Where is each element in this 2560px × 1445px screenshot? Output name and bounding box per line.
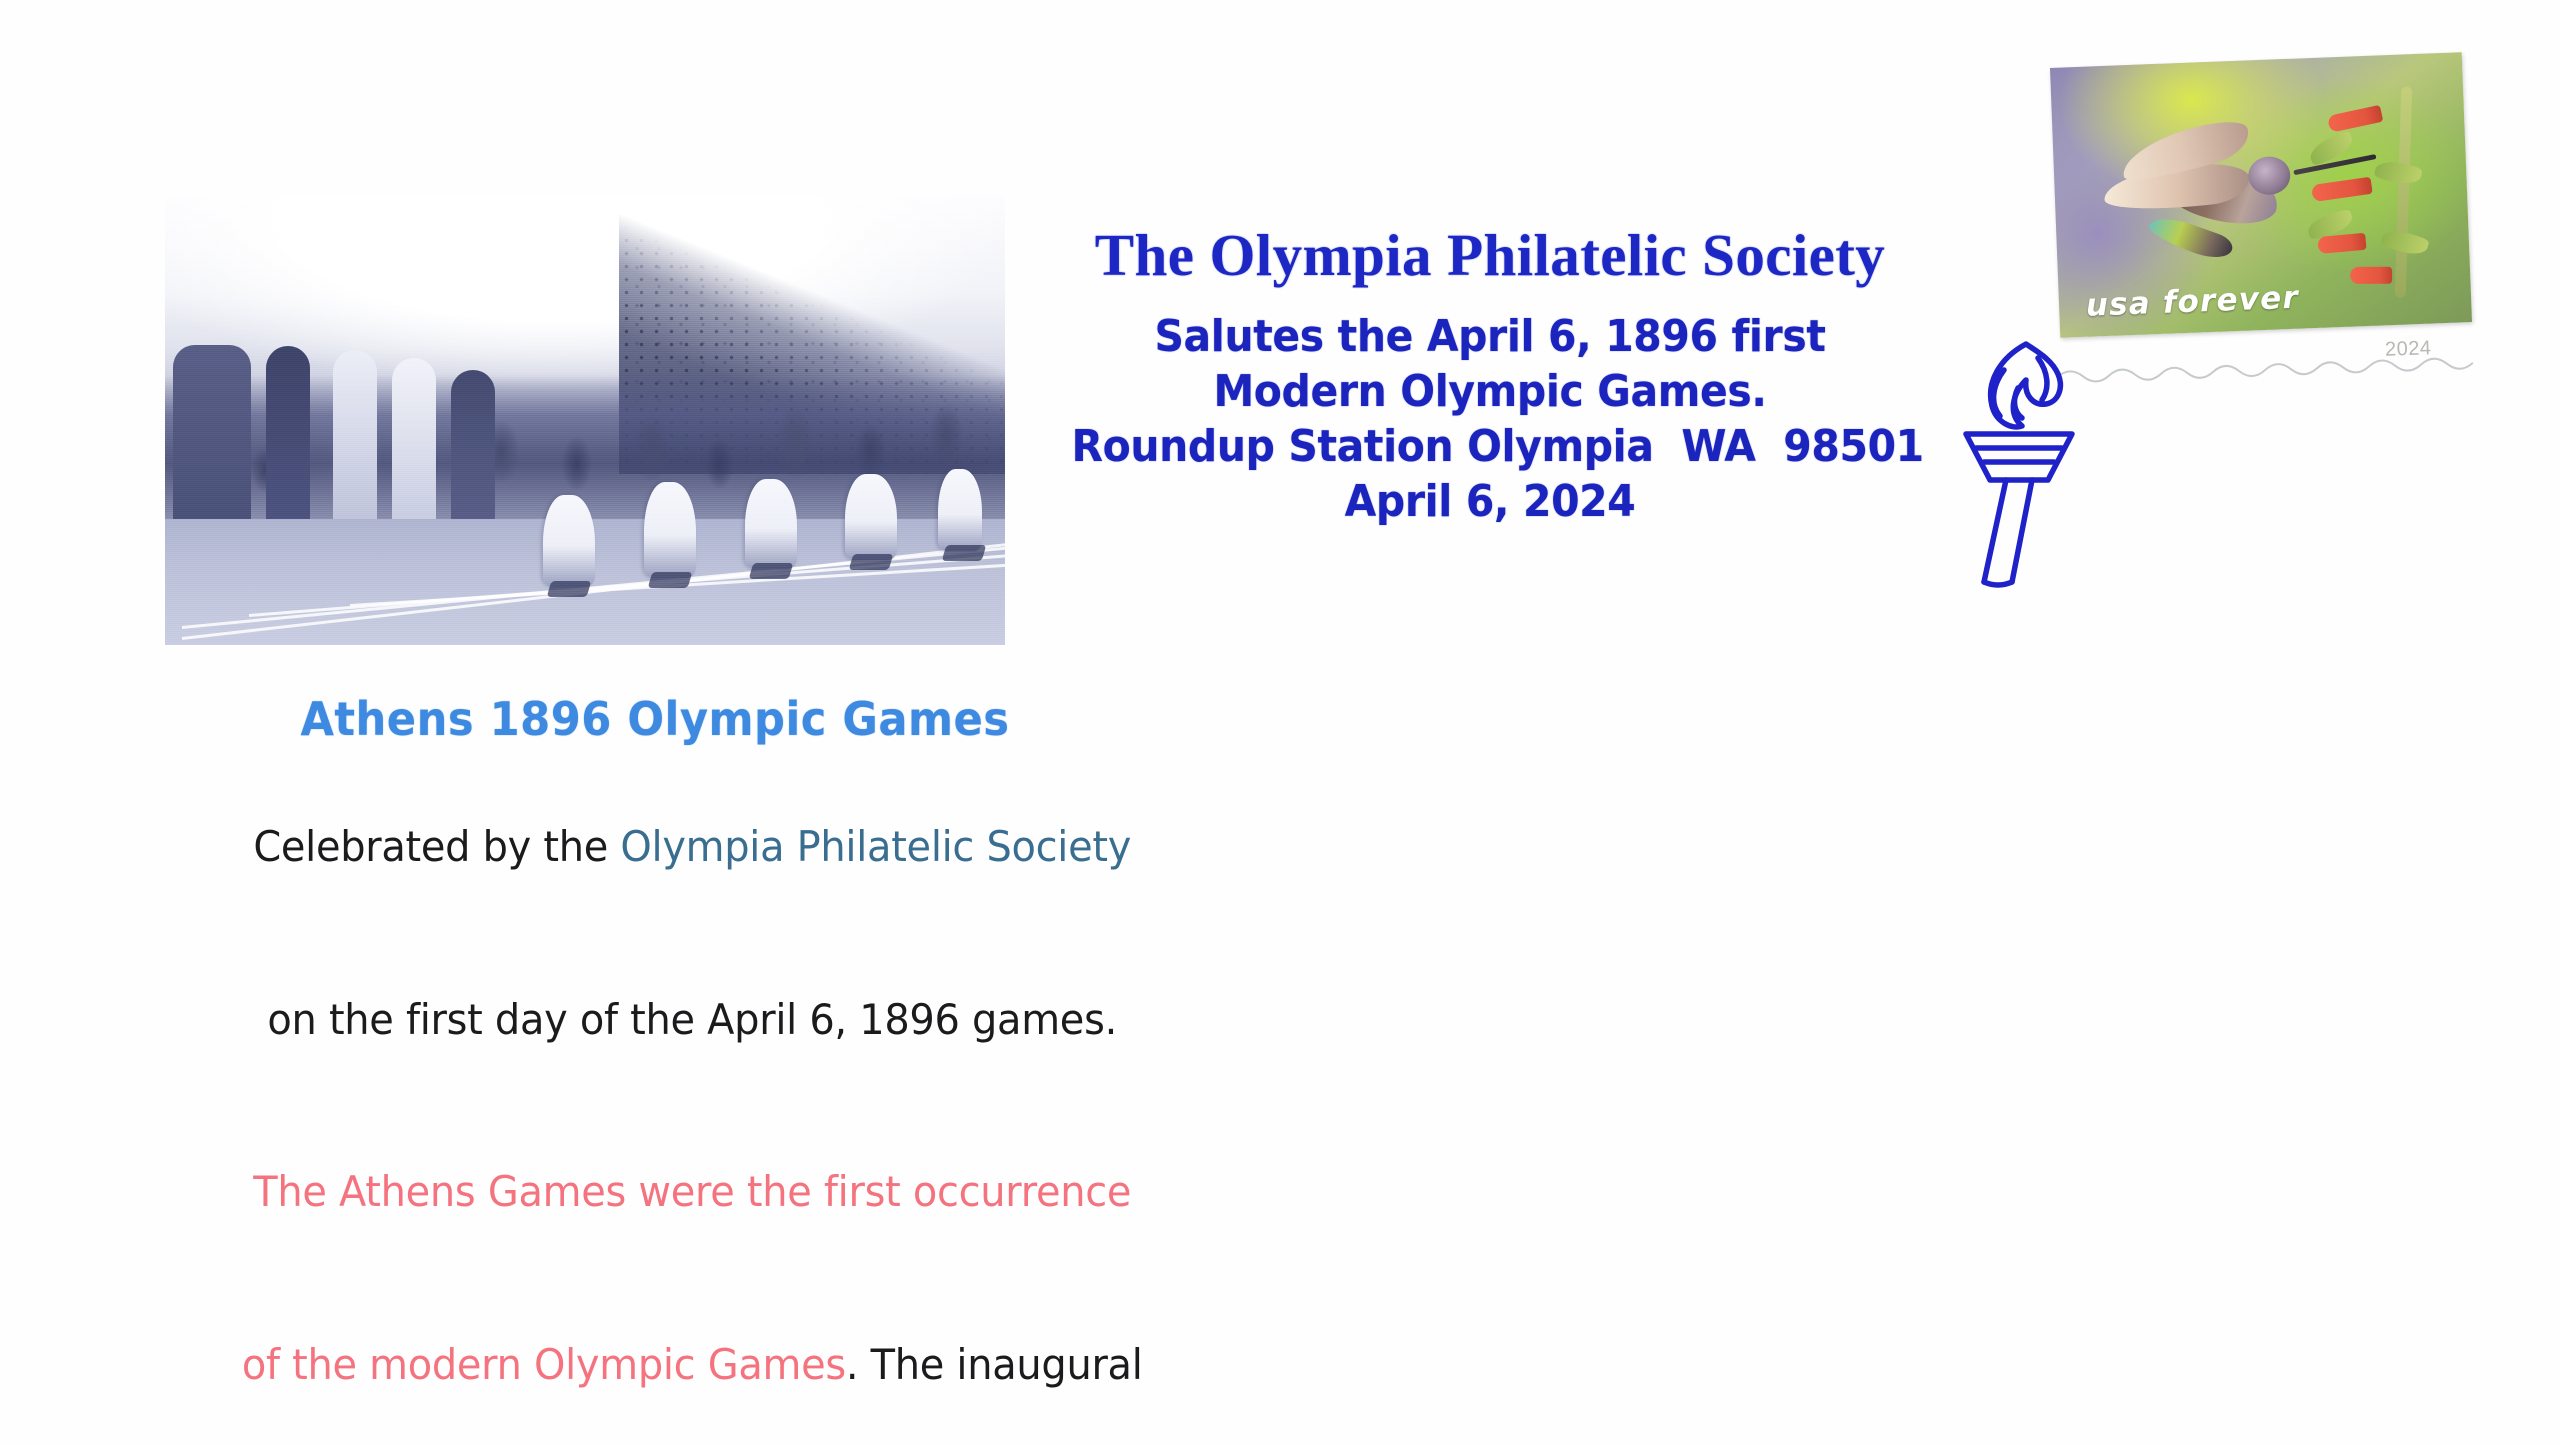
first-day-cover: The Olympia Philatelic Society Salutes t…	[0, 0, 2560, 1445]
cachet-title: The Olympia Philatelic Society	[1040, 225, 1940, 287]
body-segment-highlight: of the modern Olympic Games	[242, 1340, 846, 1389]
flower-bloom	[2327, 105, 2383, 133]
cachet-line-3: Roundup Station Olympia WA 98501	[1072, 419, 1909, 474]
cachet-lines: Salutes the April 6, 1896 first Modern O…	[1040, 309, 1940, 529]
athens-1896-photo	[165, 195, 1005, 645]
body-segment-society: Olympia Philatelic Society	[620, 822, 1131, 871]
flower-bloom	[2311, 177, 2373, 202]
body-line-3: The Athens Games were the first occurren…	[128, 1113, 1183, 1272]
body-line-4: of the modern Olympic Games. The inaugur…	[128, 1286, 1183, 1445]
body-segment-highlight: The Athens Games were the first occurren…	[253, 1167, 1131, 1216]
body-segment: Celebrated by the	[253, 822, 620, 871]
stamp-denomination: usa forever	[2085, 279, 2299, 323]
cachet-line-4: April 6, 2024	[1072, 474, 1909, 529]
body-line-1: Celebrated by the Olympia Philatelic Soc…	[128, 768, 1183, 927]
cachet-line-1: Salutes the April 6, 1896 first	[1072, 309, 1909, 364]
flower-bloom	[2317, 233, 2366, 254]
body-line-2: on the first day of the April 6, 1896 ga…	[128, 941, 1183, 1100]
body-segment: . The inaugural	[846, 1340, 1143, 1389]
cachet-line-2: Modern Olympic Games.	[1072, 364, 1909, 419]
athens-heading: Athens 1896 Olympic Games	[133, 692, 1176, 746]
photo-grain-overlay	[165, 195, 1005, 645]
flower-stem	[2395, 87, 2413, 298]
cachet-text-block: The Olympia Philatelic Society Salutes t…	[1040, 225, 1940, 529]
olympic-torch-cancel-icon	[1930, 330, 2120, 590]
hummingbird-stamp: usa forever	[2050, 52, 2472, 338]
lower-text-block: Athens 1896 Olympic Games Celebrated by …	[100, 692, 1210, 1445]
flower-bloom	[2350, 266, 2392, 283]
body-segment: on the first day of the April 6, 1896 ga…	[267, 995, 1117, 1044]
